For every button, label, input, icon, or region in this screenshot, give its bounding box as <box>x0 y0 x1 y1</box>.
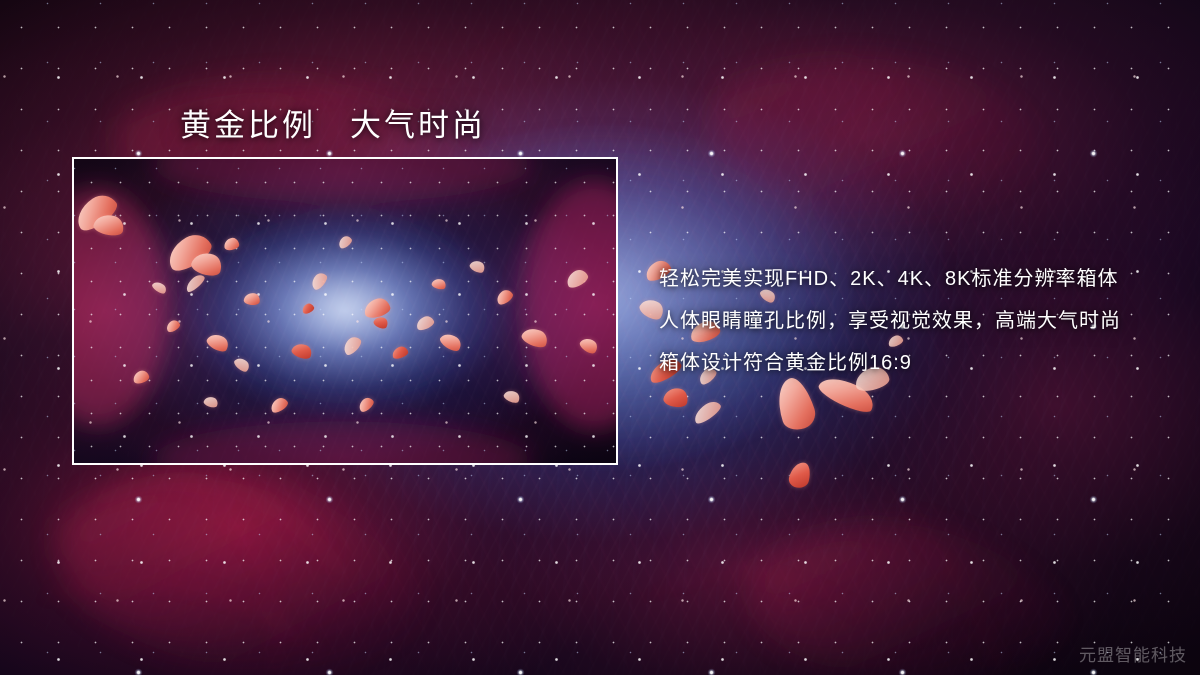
body-line-1: 轻松完美实现FHD、2K、4K、8K标准分辨率箱体 <box>659 258 1159 300</box>
slide-canvas: 黄金比例 大气时尚 轻松完美实现FHD、2K、4K、8K标准分辨率箱体 人体眼睛… <box>0 0 1200 675</box>
body-line-2: 人体眼睛瞳孔比例，享受视觉效果，高端大气时尚 <box>659 300 1159 342</box>
body-line-3: 箱体设计符合黄金比例16:9 <box>659 342 1159 384</box>
page-title: 黄金比例 大气时尚 <box>180 100 486 145</box>
panel-filament-overlay <box>74 159 616 463</box>
watermark: 元盟智能科技 <box>1079 641 1187 666</box>
nebula-preview-panel[interactable] <box>72 157 618 465</box>
body-text-block: 轻松完美实现FHD、2K、4K、8K标准分辨率箱体 人体眼睛瞳孔比例，享受视觉效… <box>659 258 1159 384</box>
